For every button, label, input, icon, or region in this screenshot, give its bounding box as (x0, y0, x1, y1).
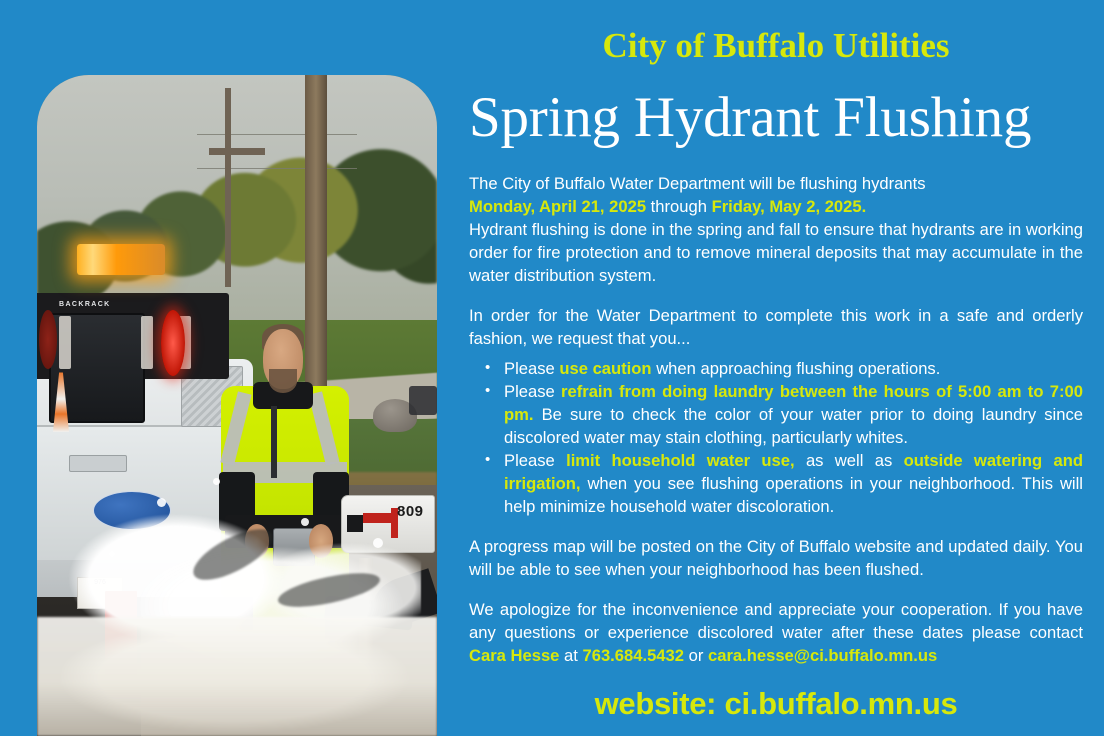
utility-pole-near (305, 75, 327, 406)
hydrant-flushing-photo: BACKRACK 976 (37, 75, 437, 736)
bullet-3-pre: Please (504, 451, 566, 470)
water-droplet-4 (109, 551, 115, 557)
contact-name: Cara Hesse (469, 646, 559, 665)
amber-warning-light-bar (77, 244, 165, 274)
utility-pole-far (225, 88, 231, 286)
apology-mid: at (559, 646, 582, 665)
spacer-3 (469, 581, 1083, 598)
website-link[interactable]: website: ci.buffalo.mn.us (469, 686, 1083, 722)
water-droplet-5 (373, 538, 383, 548)
date-end: Friday, May 2, 2025. (712, 197, 867, 216)
body-copy: The City of Buffalo Water Department wil… (469, 172, 1083, 667)
bullet-1-highlight: use caution (559, 359, 651, 378)
contact-phone[interactable]: 763.684.5432 (582, 646, 684, 665)
flyer-content: City of Buffalo Utilities Spring Hydrant… (469, 0, 1083, 736)
tail-light-left (39, 310, 57, 369)
request-lead: In order for the Water Department to com… (469, 304, 1083, 350)
water-on-road (37, 617, 437, 736)
marker-light-mid (141, 316, 153, 369)
bullet-3-mid: as well as (795, 451, 904, 470)
date-connector: through (646, 197, 712, 216)
bullet-1-pre: Please (504, 359, 559, 378)
apology-pre: We apologize for the inconvenience and a… (469, 600, 1083, 642)
photo-scene: BACKRACK 976 (37, 75, 437, 736)
contact-email[interactable]: cara.hesse@ci.buffalo.mn.us (708, 646, 937, 665)
intro-paragraph: Hydrant flushing is done in the spring a… (469, 218, 1083, 287)
apology-paragraph: We apologize for the inconvenience and a… (469, 598, 1083, 667)
flyer-page: BACKRACK 976 (0, 0, 1104, 736)
marker-light-left (59, 316, 71, 369)
list-item: Please use caution when approaching flus… (504, 357, 1083, 380)
backrack-brand-text: BACKRACK (59, 301, 111, 308)
water-droplet-3 (301, 518, 309, 526)
apology-or: or (684, 646, 708, 665)
bullet-3-highlight-1: limit household water use, (566, 451, 795, 470)
water-droplet-1 (157, 498, 166, 507)
spacer-1 (469, 287, 1083, 304)
tail-light-right (161, 310, 185, 376)
page-title: Spring Hydrant Flushing (469, 88, 1083, 148)
list-item: Please limit household water use, as wel… (504, 449, 1083, 518)
organization-title: City of Buffalo Utilities (469, 28, 1083, 65)
progress-map-paragraph: A progress map will be posted on the Cit… (469, 535, 1083, 581)
bullet-1-mid: when approaching flushing operations. (652, 359, 941, 378)
bullet-3-post: when you see flushing operations in your… (504, 474, 1083, 516)
power-wire-secondary (197, 168, 357, 169)
bullet-2-pre: Please (504, 382, 561, 401)
request-bullet-list: Please use caution when approaching flus… (469, 357, 1083, 518)
worker-beard (269, 369, 297, 393)
intro-line-1: The City of Buffalo Water Department wil… (469, 172, 1083, 195)
worker-zipper (271, 406, 277, 479)
pole-crossarm (209, 148, 265, 155)
list-item: Please refrain from doing laundry betwee… (504, 380, 1083, 449)
power-wire (197, 134, 357, 135)
flushing-dates: Monday, April 21, 2025 through Friday, M… (469, 195, 1083, 218)
bullet-2-mid: Be sure to check the color of your water… (504, 405, 1083, 447)
date-start: Monday, April 21, 2025 (469, 197, 646, 216)
tailgate-handle (69, 455, 127, 472)
spacer-2 (469, 518, 1083, 535)
parked-car (409, 386, 437, 416)
